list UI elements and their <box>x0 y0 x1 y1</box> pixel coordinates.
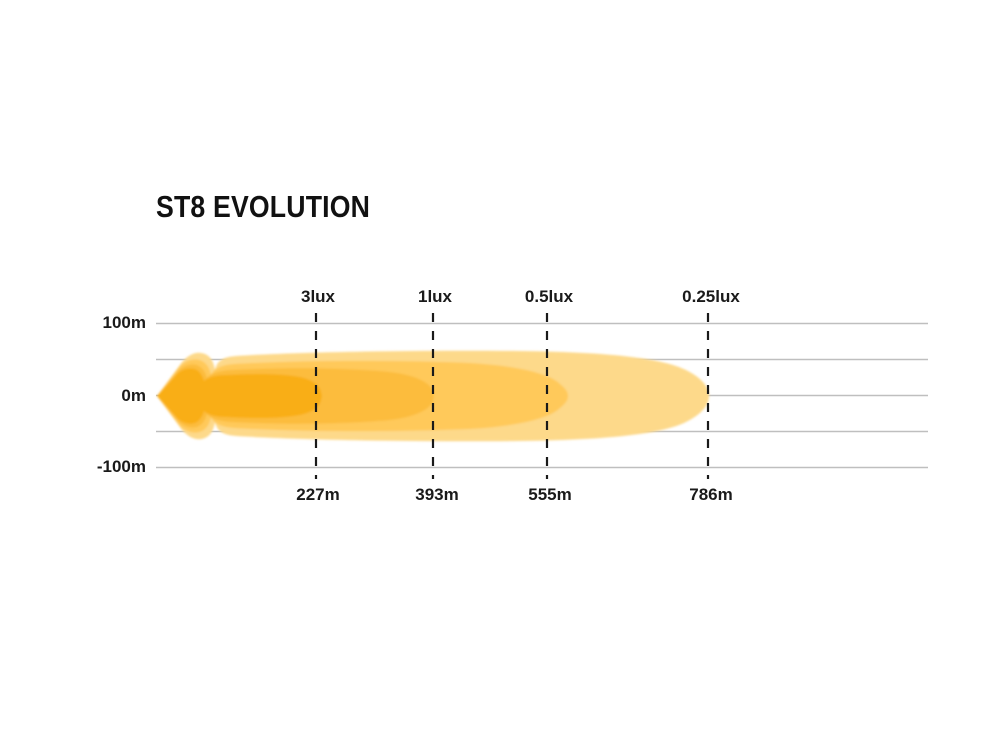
distance-label-393m: 393m <box>415 485 458 505</box>
beam-pattern-chart: ST8 EVOLUTION <box>0 0 1000 750</box>
lux-label-0.5lux: 0.5lux <box>525 287 573 307</box>
y-tick-0m: 0m <box>46 386 146 406</box>
lux-label-0.25lux: 0.25lux <box>682 287 740 307</box>
distance-label-227m: 227m <box>296 485 339 505</box>
lux-label-1lux: 1lux <box>418 287 452 307</box>
distance-label-555m: 555m <box>528 485 571 505</box>
lux-label-3lux: 3lux <box>301 287 335 307</box>
plot-area <box>0 0 1000 750</box>
y-tick-100m: 100m <box>46 313 146 333</box>
y-tick-neg100m: -100m <box>36 457 146 477</box>
distance-label-786m: 786m <box>689 485 732 505</box>
beam-layer-3lux <box>157 368 322 423</box>
